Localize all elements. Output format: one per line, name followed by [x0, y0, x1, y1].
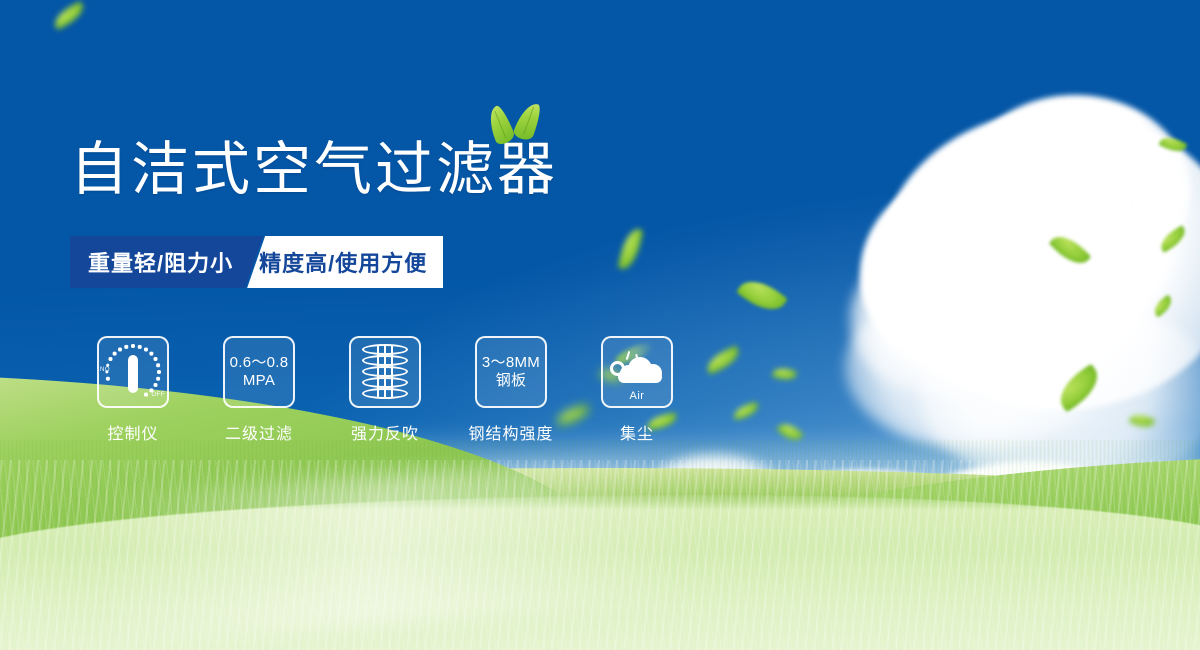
subtitle-segment-right: 精度高/使用方便	[247, 236, 443, 288]
feature-item-control[interactable]: NO OFF 控制仪	[70, 336, 196, 444]
feature-label: 集尘	[620, 420, 654, 444]
pressure-value-line2: MPA	[230, 372, 289, 390]
steel-plate-value-icon: 3～8MM 钢板	[482, 354, 540, 389]
sprout-leaf-right-icon	[512, 100, 544, 143]
dial-pointer	[128, 355, 138, 393]
subtitle-bar: 重量轻/阻力小 精度高/使用方便	[70, 236, 443, 288]
feature-icon-box	[349, 336, 421, 408]
feature-icon-box: NO OFF	[97, 336, 169, 408]
steel-value-line1: 3～8MM	[482, 354, 540, 372]
feature-icon-box: 3～8MM 钢板	[475, 336, 547, 408]
pressure-value-line1: 0.6～0.8	[230, 354, 289, 372]
feature-label: 强力反吹	[351, 420, 419, 444]
dial-label-on: NO	[100, 367, 110, 373]
swirl-ring-icon	[610, 361, 625, 376]
dial-label-off: OFF	[152, 392, 166, 398]
air-label: Air	[608, 390, 666, 402]
sprout-leaf-left-icon	[484, 104, 517, 147]
sprout-leaves-icon	[474, 102, 554, 148]
feature-item-dust[interactable]: Air 集尘	[574, 336, 700, 444]
feature-label: 控制仪	[107, 420, 158, 444]
hero-text-block: 自洁式空气过滤器	[70, 138, 558, 203]
feature-label: 二级过滤	[225, 420, 293, 444]
feature-label: 钢结构强度	[468, 420, 553, 444]
feature-list: NO OFF 控制仪 0.6～0.8 MPA 二级过滤	[70, 336, 700, 444]
feature-item-steel[interactable]: 3～8MM 钢板 钢结构强度	[448, 336, 574, 444]
subtitle-segment-left: 重量轻/阻力小	[70, 236, 263, 288]
feature-icon-box: Air	[601, 336, 673, 408]
product-hero-banner: 自洁式空气过滤器 重量轻/阻力小 精度高/使用方便	[0, 0, 1200, 650]
steel-value-line2: 钢板	[482, 372, 540, 390]
feature-icon-box: 0.6～0.8 MPA	[223, 336, 295, 408]
air-cloud-icon: Air	[608, 345, 666, 399]
pressure-value-icon: 0.6～0.8 MPA	[230, 354, 289, 389]
control-dial-icon: NO OFF	[102, 341, 164, 403]
feature-item-backflush[interactable]: 强力反吹	[322, 336, 448, 444]
feature-item-pressure[interactable]: 0.6～0.8 MPA 二级过滤	[196, 336, 322, 444]
coil-spring-icon	[362, 344, 408, 400]
